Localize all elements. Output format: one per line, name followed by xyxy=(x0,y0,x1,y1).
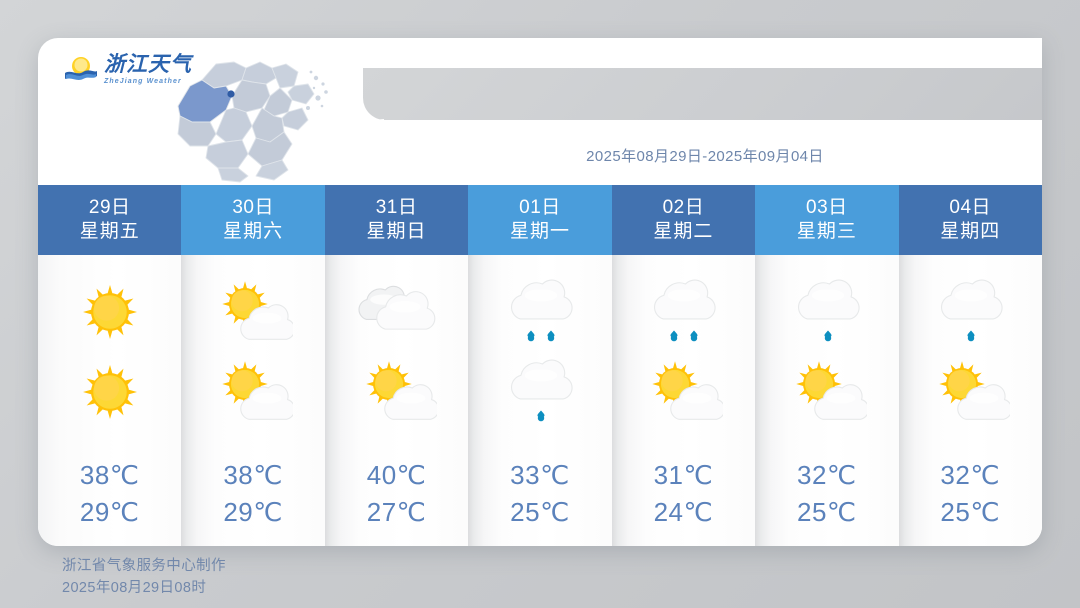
footer: 浙江省气象服务中心制作 2025年08月29日08时 xyxy=(62,556,226,600)
temperature-low: 25℃ xyxy=(797,494,857,531)
temperature-group: 38℃29℃ xyxy=(80,457,140,531)
sunny-icon xyxy=(38,353,181,431)
footer-timestamp: 2025年08月29日08时 xyxy=(62,578,226,600)
card-top-notch xyxy=(363,68,1042,120)
zhejiang-province-map xyxy=(156,42,346,185)
day-date: 31日 xyxy=(376,196,418,220)
temperature-high: 38℃ xyxy=(223,457,283,494)
partly-cloudy-icon xyxy=(181,353,324,431)
temperature-high: 32℃ xyxy=(940,457,1000,494)
day-header-row: 29日星期五30日星期六31日星期日01日星期一02日星期二03日星期三04日星… xyxy=(38,185,1042,255)
temperature-high: 31℃ xyxy=(654,457,714,494)
forecast-column-1[interactable]: 38℃29℃ xyxy=(38,255,181,546)
day-weekday: 星期六 xyxy=(223,220,283,244)
forecast-card: 浙江天气 ZheJiang Weather xyxy=(38,38,1042,546)
light-rain-icon xyxy=(899,273,1042,351)
moderate-rain-icon xyxy=(612,273,755,351)
forecast-column-4[interactable]: 33℃25℃ xyxy=(468,255,611,546)
day-date: 01日 xyxy=(519,196,561,220)
temperature-group: 33℃25℃ xyxy=(510,457,570,531)
forecast-column-7[interactable]: 32℃25℃ xyxy=(899,255,1042,546)
footer-producer: 浙江省气象服务中心制作 xyxy=(62,556,226,578)
hangzhou-city-marker xyxy=(227,90,234,97)
forecast-column-6[interactable]: 32℃25℃ xyxy=(755,255,898,546)
day-date: 29日 xyxy=(89,196,131,220)
temperature-low: 27℃ xyxy=(367,494,427,531)
temperature-high: 32℃ xyxy=(797,457,857,494)
temperature-high: 40℃ xyxy=(367,457,427,494)
sun-wave-logo-icon xyxy=(64,55,98,85)
temperature-group: 32℃25℃ xyxy=(940,457,1000,531)
partly-cloudy-icon xyxy=(755,353,898,431)
temperature-group: 31℃24℃ xyxy=(654,457,714,531)
cloudy-icon xyxy=(325,273,468,351)
partly-cloudy-icon xyxy=(181,273,324,351)
day-header-3[interactable]: 31日星期日 xyxy=(325,185,468,255)
day-weekday: 星期一 xyxy=(510,220,570,244)
day-weekday: 星期四 xyxy=(940,220,1000,244)
temperature-high: 38℃ xyxy=(80,457,140,494)
day-date: 02日 xyxy=(663,196,705,220)
sunny-icon xyxy=(38,273,181,351)
day-date: 03日 xyxy=(806,196,848,220)
forecast-column-5[interactable]: 31℃24℃ xyxy=(612,255,755,546)
day-header-4[interactable]: 01日星期一 xyxy=(468,185,611,255)
forecast-column-3[interactable]: 40℃27℃ xyxy=(325,255,468,546)
partly-cloudy-icon xyxy=(325,353,468,431)
day-header-7[interactable]: 04日星期四 xyxy=(899,185,1042,255)
temperature-low: 29℃ xyxy=(80,494,140,531)
moderate-rain-icon xyxy=(468,273,611,351)
partly-cloudy-icon xyxy=(612,353,755,431)
temperature-group: 32℃25℃ xyxy=(797,457,857,531)
temperature-low: 25℃ xyxy=(940,494,1000,531)
day-header-5[interactable]: 02日星期二 xyxy=(612,185,755,255)
temperature-low: 24℃ xyxy=(654,494,714,531)
day-date: 30日 xyxy=(232,196,274,220)
date-range: 2025年08月29日-2025年09月04日 xyxy=(368,145,1042,166)
temperature-high: 33℃ xyxy=(510,457,570,494)
day-header-6[interactable]: 03日星期三 xyxy=(755,185,898,255)
forecast-column-2[interactable]: 38℃29℃ xyxy=(181,255,324,546)
day-header-1[interactable]: 29日星期五 xyxy=(38,185,181,255)
partly-cloudy-icon xyxy=(899,353,1042,431)
light-rain-icon xyxy=(468,353,611,431)
day-weekday: 星期三 xyxy=(797,220,857,244)
day-header-2[interactable]: 30日星期六 xyxy=(181,185,324,255)
light-rain-icon xyxy=(755,273,898,351)
day-weekday: 星期二 xyxy=(653,220,713,244)
temperature-low: 25℃ xyxy=(510,494,570,531)
temperature-group: 40℃27℃ xyxy=(367,457,427,531)
day-date: 04日 xyxy=(949,196,991,220)
temperature-group: 38℃29℃ xyxy=(223,457,283,531)
temperature-low: 29℃ xyxy=(223,494,283,531)
day-weekday: 星期日 xyxy=(367,220,427,244)
zhejiang-map-icon xyxy=(156,42,346,185)
forecast-body-row: 38℃29℃38℃29℃40℃27℃33℃25℃31℃24℃32℃25℃32℃2… xyxy=(38,255,1042,546)
day-weekday: 星期五 xyxy=(80,220,140,244)
